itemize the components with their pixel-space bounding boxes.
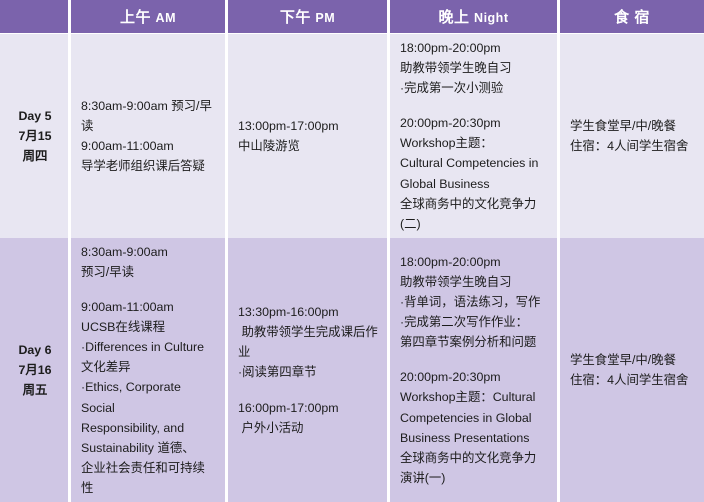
schedule-line: ·背单词，语法练习，写作 [400, 292, 549, 312]
schedule-line: ·Ethics, Corporate Social [81, 377, 217, 417]
header-cell-night: 晚上 Night [390, 0, 560, 34]
night-cell: 18:00pm-20:00pm助教带领学生晚自习·完成第一次小测验20:00pm… [390, 34, 560, 238]
night-cell: 18:00pm-20:00pm助教带领学生晚自习·背单词，语法练习，写作·完成第… [390, 238, 560, 502]
schedule-line: 户外小活动 [238, 418, 379, 438]
schedule-line: 学生食堂早/中/晚餐 [570, 350, 696, 370]
stay-cell: 学生食堂早/中/晚餐住宿：4人间学生宿舍 [560, 238, 704, 502]
schedule-line: ·完成第二次写作作业： [400, 312, 549, 332]
schedule-line: 助教带领学生晚自习 [400, 58, 549, 78]
schedule-line: 学生食堂早/中/晚餐 [570, 116, 696, 136]
schedule-line: 第四章节案例分析和问题 [400, 332, 549, 352]
table-body: Day 5 7月15 周四 8:30am-9:00am 预习/早读9:00am-… [0, 34, 704, 502]
schedule-block: 13:30pm-16:00pm 助教带领学生完成课后作业·阅读第四章节 [238, 302, 379, 382]
schedule-line: 20:00pm-20:30pm [400, 113, 549, 133]
day-date: 7月16 [10, 360, 60, 380]
schedule-line: 住宿：4人间学生宿舍 [570, 136, 696, 156]
schedule-line: Sustainability 道德、 [81, 438, 217, 458]
pm-cell: 13:30pm-16:00pm 助教带领学生完成课后作业·阅读第四章节16:00… [228, 238, 390, 502]
table-row: Day 6 7月16 周五 8:30am-9:00am预习/早读9:00am-1… [0, 238, 704, 502]
header-am-en: AM [156, 11, 176, 25]
schedule-line: Workshop主题： [400, 133, 549, 153]
schedule-block: 8:30am-9:00am预习/早读 [81, 242, 217, 282]
am-cell: 8:30am-9:00am 预习/早读9:00am-11:00am导学老师组织课… [71, 34, 228, 238]
header-cell-pm: 下午 PM [228, 0, 390, 34]
schedule-block: 9:00am-11:00amUCSB在线课程·Differences in Cu… [81, 297, 217, 498]
schedule-block: 16:00pm-17:00pm 户外小活动 [238, 398, 379, 438]
header-pm-cn: 下午 [280, 9, 311, 26]
schedule-line: 预习/早读 [81, 262, 217, 282]
day-number: Day 5 [10, 106, 60, 126]
header-cell-am: 上午 AM [71, 0, 228, 34]
schedule-line: ·Differences in Culture [81, 337, 217, 357]
am-cell: 8:30am-9:00am预习/早读9:00am-11:00amUCSB在线课程… [71, 238, 228, 502]
schedule-line: 9:00am-11:00am [81, 297, 217, 317]
schedule-line: Cultural Competencies in [400, 153, 549, 173]
schedule-line: Competencies in Global [400, 408, 549, 428]
schedule-line: 20:00pm-20:30pm [400, 367, 549, 387]
schedule-table: 上午 AM 下午 PM 晚上 Night 食 宿 Day 5 7月15 周四 8… [0, 0, 704, 502]
schedule-line: 13:30pm-16:00pm [238, 302, 379, 322]
schedule-line: 13:00pm-17:00pm [238, 116, 379, 136]
header-row: 上午 AM 下午 PM 晚上 Night 食 宿 [0, 0, 704, 34]
schedule-line: 9:00am-11:00am [81, 136, 217, 156]
schedule-line: 8:30am-9:00am [81, 242, 217, 262]
schedule-line: 文化差异 [81, 357, 217, 377]
schedule-line: 助教带领学生晚自习 [400, 272, 549, 292]
schedule-block: 18:00pm-20:00pm助教带领学生晚自习·完成第一次小测验 [400, 38, 549, 98]
header-am-cn: 上午 [120, 9, 151, 26]
schedule-line: 全球商务中的文化竞争力 [400, 448, 549, 468]
table-row: Day 5 7月15 周四 8:30am-9:00am 预习/早读9:00am-… [0, 34, 704, 238]
schedule-line: Workshop主题：Cultural [400, 387, 549, 407]
schedule-line: ·完成第一次小测验 [400, 78, 549, 98]
schedule-block: 20:00pm-20:30pmWorkshop主题：CulturalCompet… [400, 367, 549, 488]
header-stay-cn: 食 宿 [614, 9, 650, 26]
schedule-line: 导学老师组织课后答疑 [81, 156, 217, 176]
day-number: Day 6 [10, 340, 60, 360]
day-weekday: 周四 [10, 146, 60, 166]
stay-cell: 学生食堂早/中/晚餐住宿：4人间学生宿舍 [560, 34, 704, 238]
schedule-line: 18:00pm-20:00pm [400, 38, 549, 58]
schedule-line: 8:30am-9:00am 预习/早读 [81, 96, 217, 136]
schedule-line: 18:00pm-20:00pm [400, 252, 549, 272]
day-label-cell: Day 6 7月16 周五 [0, 238, 71, 502]
table-header: 上午 AM 下午 PM 晚上 Night 食 宿 [0, 0, 704, 34]
schedule-line: 助教带领学生完成课后作业 [238, 322, 379, 362]
schedule-line: ·阅读第四章节 [238, 362, 379, 382]
header-cell-stay: 食 宿 [560, 0, 704, 34]
schedule-block: 8:30am-9:00am 预习/早读9:00am-11:00am导学老师组织课… [81, 96, 217, 176]
day-date: 7月15 [10, 126, 60, 146]
schedule-block: 13:00pm-17:00pm中山陵游览 [238, 116, 379, 156]
schedule-block: 20:00pm-20:30pmWorkshop主题：Cultural Compe… [400, 113, 549, 234]
day-label-cell: Day 5 7月15 周四 [0, 34, 71, 238]
schedule-line: 企业社会责任和可持续性 [81, 458, 217, 498]
schedule-line: 住宿：4人间学生宿舍 [570, 370, 696, 390]
schedule-block: 学生食堂早/中/晚餐住宿：4人间学生宿舍 [570, 350, 696, 390]
schedule-line: 16:00pm-17:00pm [238, 398, 379, 418]
header-pm-en: PM [315, 11, 335, 25]
schedule-block: 18:00pm-20:00pm助教带领学生晚自习·背单词，语法练习，写作·完成第… [400, 252, 549, 352]
day-weekday: 周五 [10, 380, 60, 400]
schedule-line: 全球商务中的文化竞争力(二) [400, 194, 549, 234]
schedule-line: 中山陵游览 [238, 136, 379, 156]
schedule-line: Responsibility, and [81, 418, 217, 438]
header-cell-day [0, 0, 71, 34]
schedule-block: 学生食堂早/中/晚餐住宿：4人间学生宿舍 [570, 116, 696, 156]
schedule-line: Global Business [400, 174, 549, 194]
header-night-en: Night [474, 11, 508, 25]
pm-cell: 13:00pm-17:00pm中山陵游览 [228, 34, 390, 238]
schedule-line: 演讲(一) [400, 468, 549, 488]
schedule-line: UCSB在线课程 [81, 317, 217, 337]
header-night-cn: 晚上 [439, 9, 470, 26]
